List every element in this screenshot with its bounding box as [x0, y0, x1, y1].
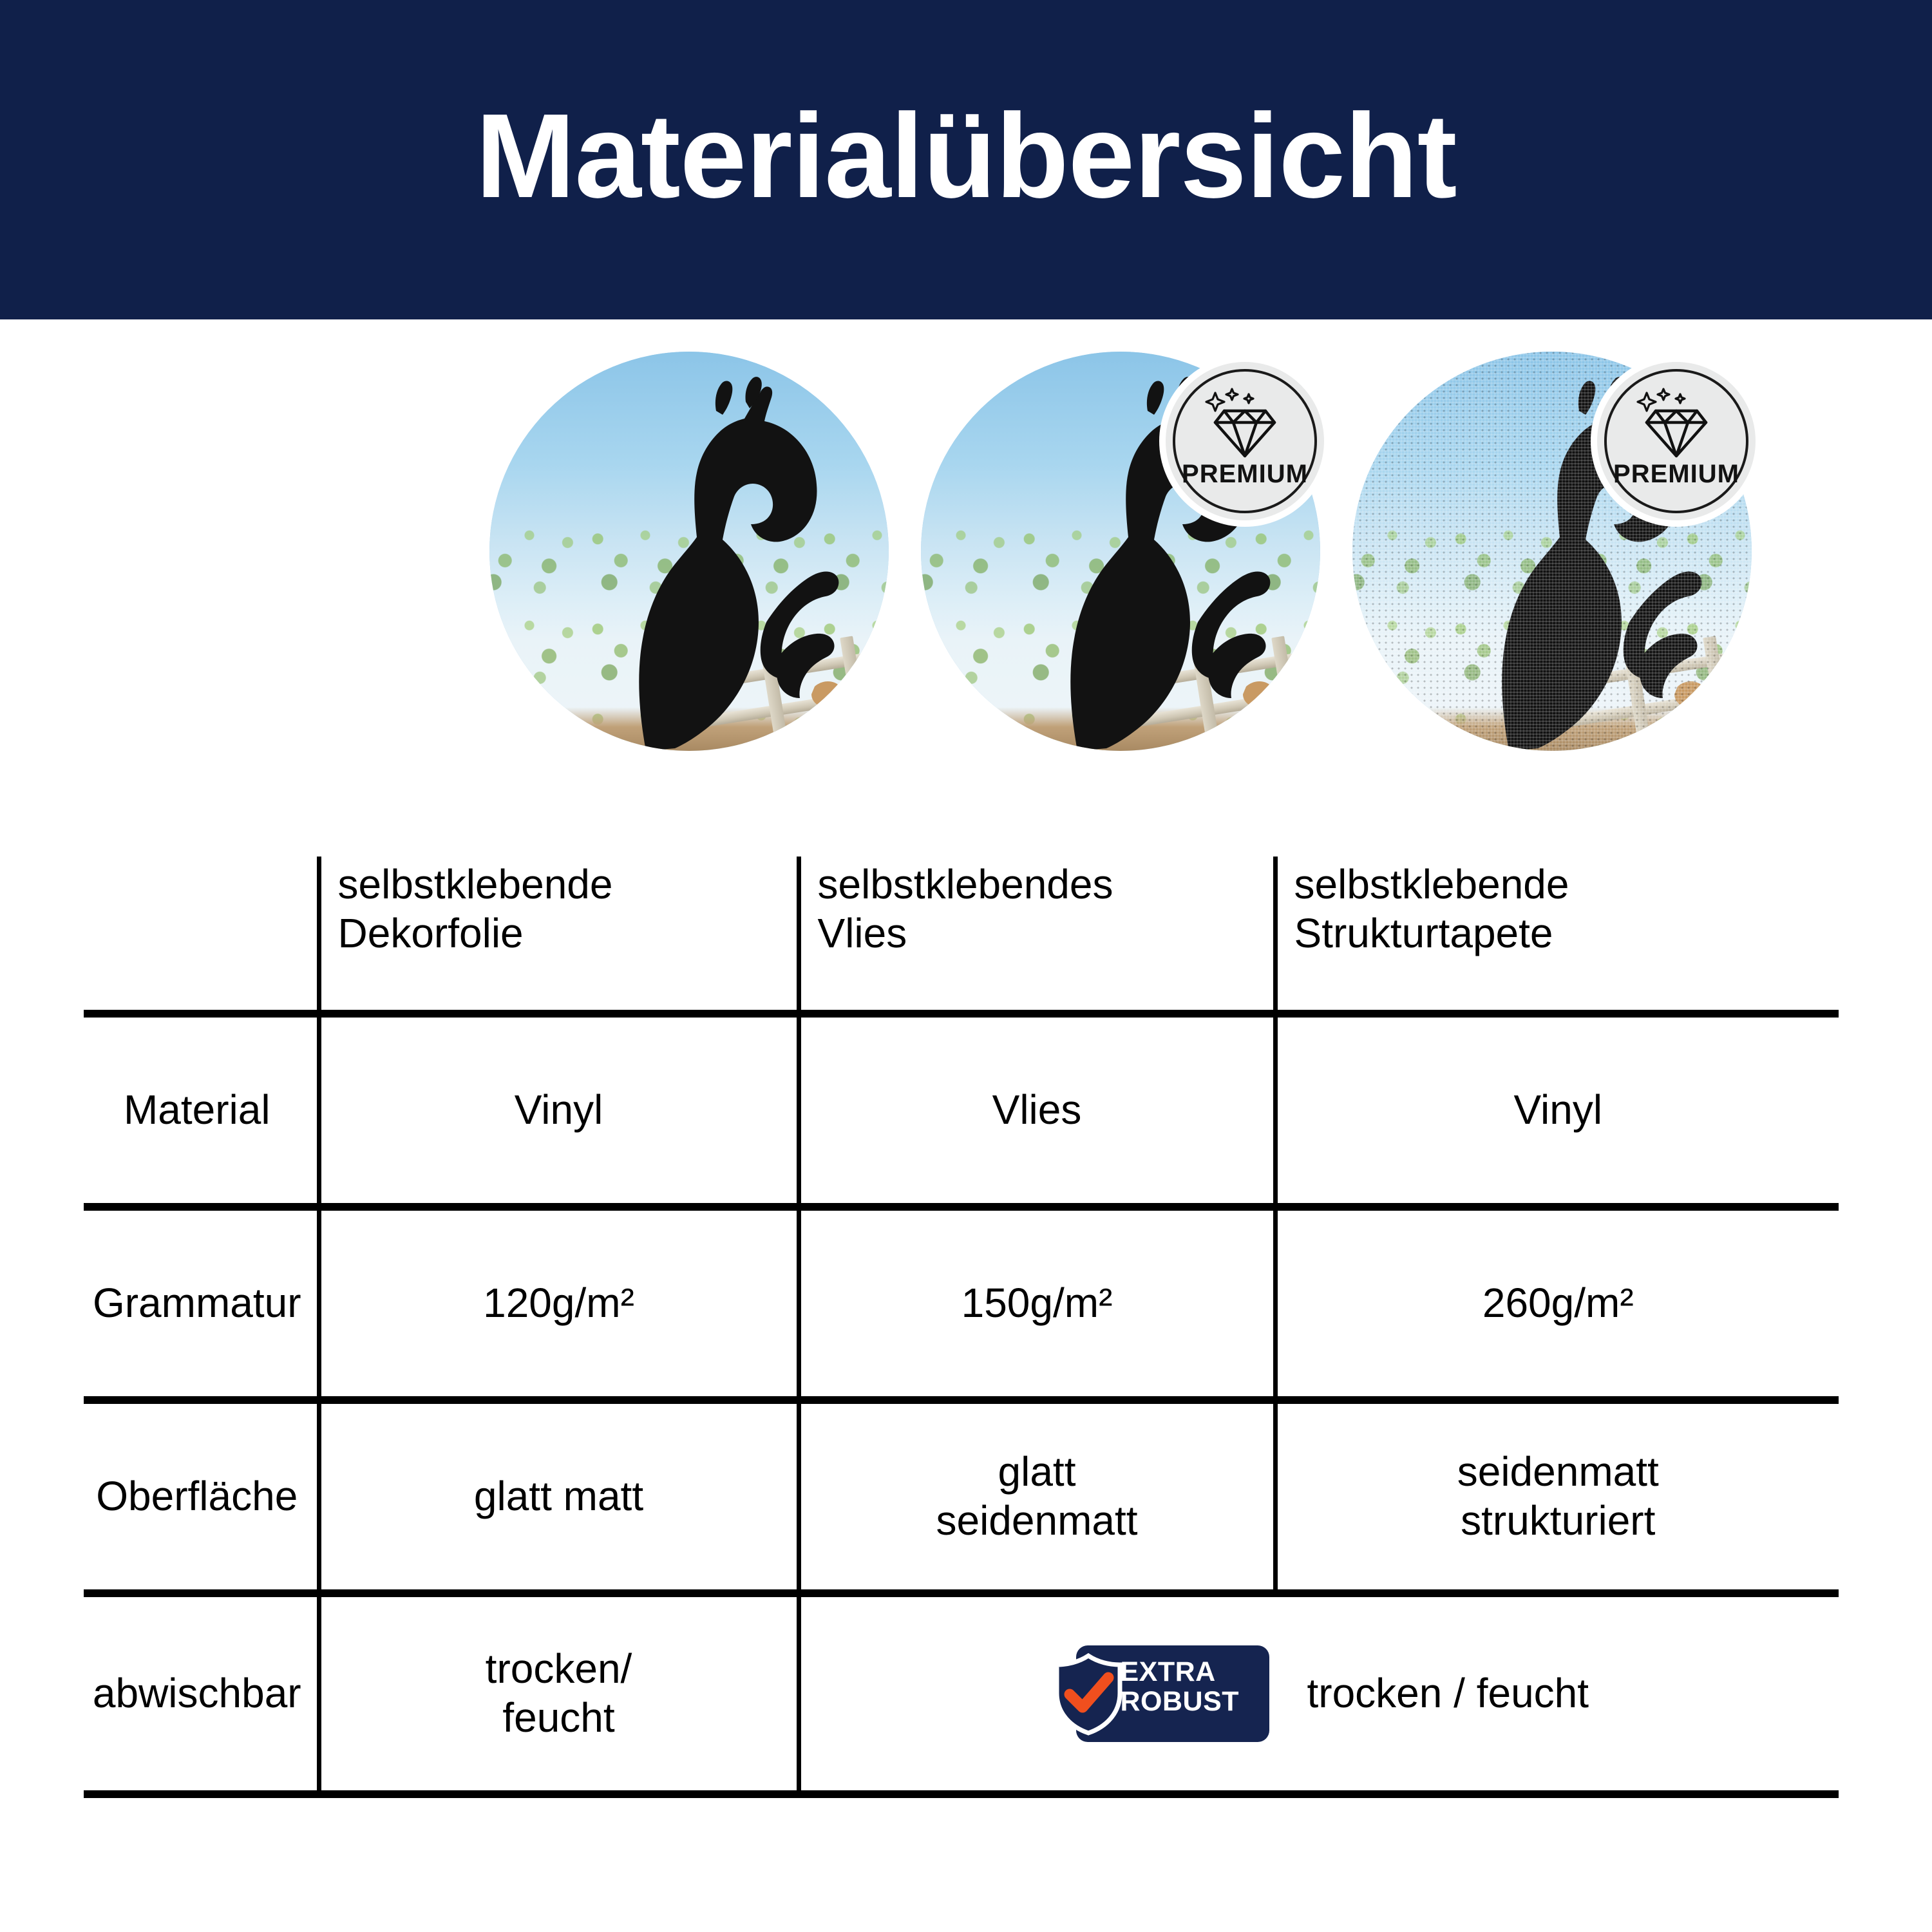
rearing-horse-icon [489, 352, 889, 751]
horse-photo-circle-1 [489, 352, 889, 751]
product-preview-strukturtapete[interactable]: PREMIUM [1352, 352, 1752, 751]
row-label-oberflaeche: Oberfläche [84, 1404, 319, 1593]
cell-material-vlies: Vlies [799, 1018, 1275, 1207]
table-row-material: Material Vinyl Vlies Vinyl [84, 1018, 1839, 1207]
header-cell-dekorfolie: selbstklebende Dekorfolie [319, 857, 799, 1014]
premium-badge: PREMIUM [1166, 362, 1324, 520]
row-label-material: Material [84, 1018, 319, 1207]
diamond-icon [1202, 385, 1287, 460]
page-title: Materialübersicht [475, 97, 1456, 216]
cell-abwischbar-dekorfolie: trocken/ feucht [319, 1597, 799, 1794]
shield-check-icon [1050, 1653, 1126, 1736]
premium-badge: PREMIUM [1597, 362, 1756, 520]
table-row-abwischbar: abwischbar trocken/ feucht [84, 1597, 1839, 1794]
header-cell-empty [84, 857, 319, 1014]
extra-robust-label: EXTRA ROBUST [1120, 1657, 1265, 1717]
product-preview-vlies[interactable]: PREMIUM [921, 352, 1320, 751]
material-comparison-table: selbstklebende Dekorfolie selbstklebende… [84, 857, 1839, 1798]
table-divider-bottom [84, 1794, 1839, 1798]
diamond-icon [1634, 385, 1719, 460]
cell-grammatur-vlies: 150g/m² [799, 1211, 1275, 1400]
cell-grammatur-strukturtapete: 260g/m² [1275, 1211, 1839, 1400]
row-label-abwischbar: abwischbar [84, 1597, 319, 1794]
table-row-grammatur: Grammatur 120g/m² 150g/m² 260g/m² [84, 1211, 1839, 1400]
premium-badge-label: PREMIUM [1597, 460, 1756, 489]
table-row-oberflaeche: Oberfläche glatt matt glatt seidenmatt s… [84, 1404, 1839, 1593]
premium-badge-label: PREMIUM [1166, 460, 1324, 489]
product-preview-dekorfolie[interactable] [489, 352, 889, 751]
product-preview-row: PREMIUM [0, 352, 1932, 757]
cell-abwischbar-value: trocken / feucht [1307, 1669, 1589, 1718]
header-cell-vlies: selbstklebendes Vlies [799, 857, 1275, 1014]
header-cell-strukturtapete: selbstklebende Strukturtapete [1275, 857, 1839, 1014]
cell-abwischbar-vlies-strukturtapete: EXTRA ROBUST trocken / feucht [799, 1597, 1839, 1794]
extra-robust-badge: EXTRA ROBUST [1050, 1645, 1269, 1742]
cell-material-dekorfolie: Vinyl [319, 1018, 799, 1207]
header-banner: Materialübersicht [0, 0, 1932, 319]
row-label-grammatur: Grammatur [84, 1211, 319, 1400]
cell-material-strukturtapete: Vinyl [1275, 1018, 1839, 1207]
cell-oberflaeche-strukturtapete: seidenmatt strukturiert [1275, 1404, 1839, 1593]
table-header-row: selbstklebende Dekorfolie selbstklebende… [84, 857, 1839, 1014]
cell-grammatur-dekorfolie: 120g/m² [319, 1211, 799, 1400]
cell-oberflaeche-dekorfolie: glatt matt [319, 1404, 799, 1593]
cell-oberflaeche-vlies: glatt seidenmatt [799, 1404, 1275, 1593]
